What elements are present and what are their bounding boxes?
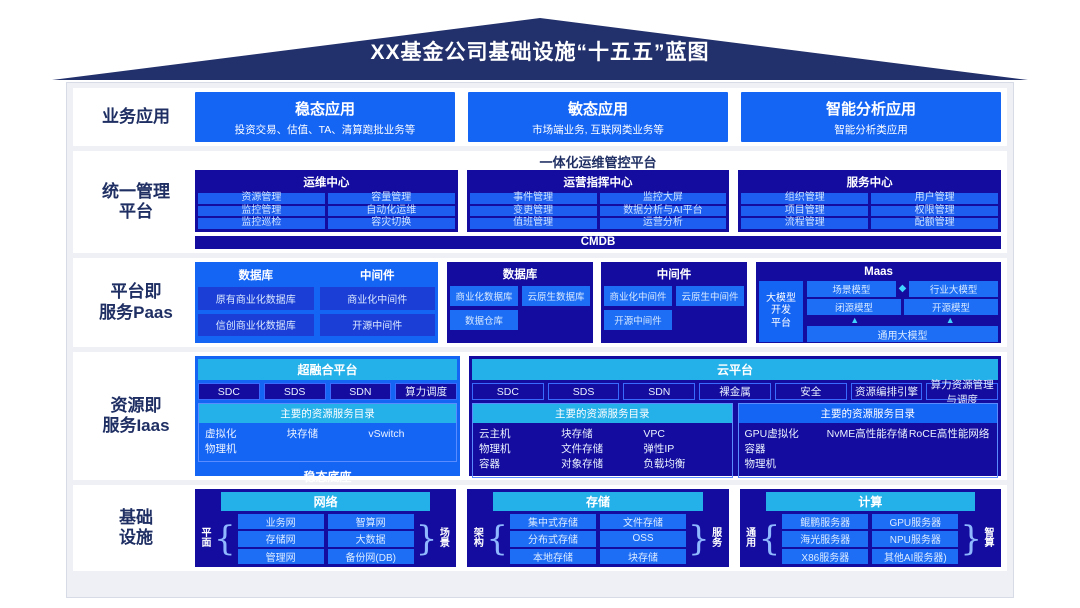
infra-network-block: 网络 平面 { 业务网 智算网 存储网 大数据 管理网 备份网(DB) } — [195, 489, 456, 567]
row-iaas: 资源即 服务Iaas 超融合平台 SDC SDS SDN 算力调度 主要的资源 — [73, 352, 1007, 480]
row-label-line1: 基础 — [119, 508, 153, 527]
app-card-intelligent-analysis[interactable]: 智能分析应用 智能分析类应用 — [741, 92, 1001, 142]
maas-model-industry[interactable]: 行业大模型 — [909, 281, 998, 297]
paas-mid-title: 中间件 — [604, 265, 744, 286]
catalog-item: NvME高性能存储 — [827, 427, 909, 442]
catalog-column: 块存储 — [287, 427, 369, 457]
catalog-item: 虚拟化 — [205, 427, 287, 442]
app-card-stable[interactable]: 稳态应用 投资交易、估值、TA、清算跑批业务等 — [195, 92, 455, 142]
infra-mid: 通用 { 鲲鹏服务器 GPU服务器 海光服务器 NPU服务器 X86服务器 其他… — [744, 514, 997, 564]
center-item[interactable]: 运营分析 — [600, 218, 727, 229]
hyperconverged-catalog-wrap: 主要的资源服务目录 虚拟化 物理机 块存储 vSwitc — [198, 403, 457, 462]
catalog-heading: 主要的资源服务目录 — [739, 404, 998, 423]
center-title: 服务中心 — [741, 172, 998, 193]
capability-security[interactable]: 安全 — [775, 383, 847, 400]
paas-mid-item[interactable]: 数据仓库 — [450, 310, 518, 330]
row-infrastructure: 基础 设施 网络 平面 { 业务网 智算网 存储网 大数据 — [73, 485, 1007, 571]
paas-item[interactable]: 开源中间件 — [320, 314, 436, 337]
row-label-line2: 平台 — [119, 202, 153, 221]
paas-mid-item[interactable]: 云原生中间件 — [676, 286, 744, 306]
catalog-column: VPC 弹性IP 负载均衡 — [643, 427, 725, 473]
brace-left-icon: { — [759, 514, 781, 564]
catalog-item: vSwitch — [368, 427, 450, 442]
catalog-item: RoCE高性能网络 — [909, 427, 991, 442]
row-business-application: 业务应用 稳态应用 投资交易、估值、TA、清算跑批业务等 敏态应用 市场端业务,… — [73, 88, 1007, 146]
paas-mid-title: 数据库 — [450, 265, 590, 286]
catalog-item: 弹性IP — [643, 442, 725, 457]
maas-development-platform[interactable]: 大模型 开发 平台 — [759, 281, 803, 342]
arrow-right-icon: ◆ — [899, 284, 907, 294]
center-item[interactable]: 项目管理 — [741, 206, 868, 217]
maas-model-general[interactable]: 通用大模型 — [807, 326, 998, 342]
infra-item[interactable]: 块存储 — [600, 549, 686, 564]
paas-mid-item[interactable]: 开源中间件 — [604, 310, 672, 330]
maas-model-closed-source[interactable]: 闭源模型 — [807, 299, 901, 315]
maas-row-source: 闭源模型 开源模型 — [807, 299, 998, 315]
catalog-item: 物理机 — [479, 442, 561, 457]
paas-mid-item-empty — [676, 310, 744, 330]
app-card-title: 智能分析应用 — [826, 98, 916, 119]
catalog-item: 块存储 — [561, 427, 643, 442]
capability-orchestration-engine[interactable]: 资源编排引擎 — [851, 383, 923, 400]
app-card-title: 稳态应用 — [295, 98, 355, 119]
app-card-title: 敏态应用 — [568, 98, 628, 119]
row-label-line2: 服务Iaas — [102, 416, 169, 435]
infra-item[interactable]: 其他AI服务器) — [872, 549, 958, 564]
app-card-agile[interactable]: 敏态应用 市场端业务, 互联网类业务等 — [468, 92, 728, 142]
catalog-column: RoCE高性能网络 — [909, 427, 991, 473]
row-label-line2: 服务Paas — [99, 303, 173, 322]
paas-mid-middleware: 中间件 商业化中间件 云原生中间件 开源中间件 — [601, 262, 747, 343]
maas-platform-line3: 平台 — [771, 318, 791, 329]
paas-mid-item-empty — [522, 310, 590, 330]
app-card-subtitle: 投资交易、估值、TA、清算跑批业务等 — [235, 122, 416, 137]
row-label-line1: 统一管理 — [102, 182, 170, 201]
maas-block: Maas 大模型 开发 平台 场景模型 ◆ — [756, 262, 1001, 343]
brace-right-icon: } — [688, 514, 710, 564]
row-label-infrastructure: 基础 设施 — [77, 489, 195, 567]
brace-right-icon: } — [960, 514, 982, 564]
capability-sdn[interactable]: SDN — [330, 383, 392, 400]
paas-item[interactable]: 商业化中间件 — [320, 287, 436, 310]
row-label-business: 业务应用 — [77, 92, 195, 142]
resource-catalog: 主要的资源服务目录 虚拟化 物理机 块存储 vSwitc — [198, 403, 457, 462]
iaas-body: 超融合平台 SDC SDS SDN 算力调度 主要的资源服务目录 虚拟化 — [195, 356, 1001, 476]
resource-catalog-ai: 主要的资源服务目录 GPU虚拟化 容器 物理机 NvME高性能存储 — [738, 403, 999, 478]
center-item[interactable]: 流程管理 — [741, 218, 868, 229]
resource-catalog-general: 主要的资源服务目录 云主机 物理机 容器 块存储 文件存储 — [472, 403, 733, 478]
infra-compute-block: 计算 通用 { 鲲鹏服务器 GPU服务器 海光服务器 NPU服务器 X86服务器… — [740, 489, 1001, 567]
paas-mid-item[interactable]: 商业化中间件 — [604, 286, 672, 306]
blueprint-diagram: XX基金公司基础设施“十五五”蓝图 业务应用 稳态应用 投资交易、估值、TA、清… — [0, 0, 1080, 608]
infra-title: 网络 — [221, 492, 430, 511]
capability-sds[interactable]: SDS — [548, 383, 620, 400]
paas-mid-items: 商业化中间件 云原生中间件 开源中间件 — [604, 286, 744, 330]
catalog-item: 容器 — [745, 442, 827, 457]
center-item[interactable]: 监控管理 — [198, 206, 325, 217]
infra-right-label: 场景 — [437, 514, 452, 564]
infra-item[interactable]: GPU服务器 — [872, 514, 958, 529]
catalog-column: GPU虚拟化 容器 物理机 — [745, 427, 827, 473]
catalog-column: 云主机 物理机 容器 — [479, 427, 561, 473]
paas-mid-item[interactable]: 云原生数据库 — [522, 286, 590, 306]
paas-item[interactable]: 原有商业化数据库 — [198, 287, 314, 310]
infra-item[interactable]: 大数据 — [328, 531, 414, 546]
catalog-items: 云主机 物理机 容器 块存储 文件存储 对象存储 — [473, 423, 732, 477]
infra-item[interactable]: NPU服务器 — [872, 531, 958, 546]
maas-platform-line1: 大模型 — [766, 293, 796, 304]
maas-row-scene: 场景模型 ◆ 行业大模型 — [807, 281, 998, 297]
capability-sdc[interactable]: SDC — [472, 383, 544, 400]
app-card-subtitle: 市场端业务, 互联网类业务等 — [532, 122, 664, 137]
infra-left-label: 通用 — [744, 514, 759, 564]
center-item[interactable]: 变更管理 — [470, 206, 597, 217]
infra-item[interactable]: 文件存储 — [600, 514, 686, 529]
center-title: 运维中心 — [198, 172, 455, 193]
business-cards: 稳态应用 投资交易、估值、TA、清算跑批业务等 敏态应用 市场端业务, 互联网类… — [195, 92, 1001, 142]
diagram-frame: 业务应用 稳态应用 投资交易、估值、TA、清算跑批业务等 敏态应用 市场端业务,… — [66, 82, 1014, 598]
catalog-item: 容器 — [479, 457, 561, 472]
infra-item[interactable]: 存储网 — [238, 531, 324, 546]
center-items: 事件管理 监控大屏 变更管理 数据分析与AI平台 值班管理 运营分析 — [470, 193, 727, 229]
center-item[interactable]: 配额管理 — [871, 218, 998, 229]
row-label-line2: 设施 — [119, 528, 153, 547]
stable-base-label: 稳态底座 — [198, 465, 457, 487]
infra-title: 存储 — [493, 492, 702, 511]
paas-column-title: 中间件 — [320, 265, 436, 287]
arrow-up-icon: ▲ — [903, 317, 999, 324]
infra-mid: 平面 { 业务网 智算网 存储网 大数据 管理网 备份网(DB) } 场景 — [199, 514, 452, 564]
infrastructure-body: 网络 平面 { 业务网 智算网 存储网 大数据 管理网 备份网(DB) } — [195, 489, 1001, 567]
infra-item[interactable]: 备份网(DB) — [328, 549, 414, 564]
row-paas: 平台即 服务Paas 数据库 原有商业化数据库 信创商业化数据库 中间件 商业化… — [73, 258, 1007, 347]
catalog-item: 物理机 — [205, 442, 287, 457]
center-service[interactable]: 服务中心 组织管理 用户管理 项目管理 权限管理 流程管理 配额管理 — [738, 170, 1001, 232]
cloud-platform-title: 云平台 — [472, 359, 998, 380]
hyperconverged-platform-block: 超融合平台 SDC SDS SDN 算力调度 主要的资源服务目录 虚拟化 — [195, 356, 460, 476]
capability-sds[interactable]: SDS — [264, 383, 326, 400]
paas-column-database: 数据库 原有商业化数据库 信创商业化数据库 — [198, 265, 314, 340]
center-ops[interactable]: 运维中心 资源管理 容量管理 监控管理 自动化运维 监控巡检 容灾切换 — [195, 170, 458, 232]
infra-items: 业务网 智算网 存储网 大数据 管理网 备份网(DB) — [236, 514, 416, 564]
capability-bare-metal[interactable]: 裸金属 — [699, 383, 771, 400]
center-items: 组织管理 用户管理 项目管理 权限管理 流程管理 配额管理 — [741, 193, 998, 229]
paas-column-middleware: 中间件 商业化中间件 开源中间件 — [320, 265, 436, 340]
catalog-item: 对象存储 — [561, 457, 643, 472]
catalog-item: 云主机 — [479, 427, 561, 442]
capability-sdn[interactable]: SDN — [623, 383, 695, 400]
center-item[interactable]: 自动化运维 — [328, 206, 455, 217]
brace-right-icon: } — [416, 514, 438, 564]
catalog-column: 虚拟化 物理机 — [205, 427, 287, 457]
paas-agile-group: 数据库 商业化数据库 云原生数据库 数据仓库 中间件 商业化中间件 云原生中间件 — [447, 262, 747, 343]
maas-arrow-row: ▲ ▲ — [807, 317, 998, 324]
capability-sdc[interactable]: SDC — [198, 383, 260, 400]
cloud-catalog-wrap: 主要的资源服务目录 云主机 物理机 容器 块存储 文件存储 — [472, 403, 998, 478]
infra-item[interactable]: OSS — [600, 531, 686, 546]
infra-item[interactable]: 管理网 — [238, 549, 324, 564]
hyperconverged-capabilities: SDC SDS SDN 算力调度 — [198, 383, 457, 400]
row-label-line1: 平台即 — [110, 282, 161, 301]
management-body: 一体化运维管控平台 运维中心 资源管理 容量管理 监控管理 自动化运维 监控巡检… — [195, 155, 1001, 249]
maas-title: Maas — [759, 265, 998, 281]
infra-item[interactable]: 业务网 — [238, 514, 324, 529]
page-title: XX基金公司基础设施“十五五”蓝图 — [0, 36, 1080, 66]
maas-platform-line2: 开发 — [771, 305, 791, 316]
center-item[interactable]: 容量管理 — [328, 193, 455, 204]
center-item[interactable]: 用户管理 — [871, 193, 998, 204]
infra-left-label: 平面 — [199, 514, 214, 564]
paas-stable-group: 数据库 原有商业化数据库 信创商业化数据库 中间件 商业化中间件 开源中间件 — [195, 262, 438, 343]
maas-model-open-source[interactable]: 开源模型 — [904, 299, 998, 315]
row-label-paas: 平台即 服务Paas — [77, 262, 195, 343]
center-item[interactable]: 监控大屏 — [600, 193, 727, 204]
paas-mid-database: 数据库 商业化数据库 云原生数据库 数据仓库 — [447, 262, 593, 343]
infra-item[interactable]: X86服务器 — [782, 549, 868, 564]
paas-item[interactable]: 信创商业化数据库 — [198, 314, 314, 337]
center-item[interactable]: 组织管理 — [741, 193, 868, 204]
catalog-item: 文件存储 — [561, 442, 643, 457]
infra-items: 集中式存储 文件存储 分布式存储 OSS 本地存储 块存储 — [508, 514, 688, 564]
catalog-items: 虚拟化 物理机 块存储 vSwitch — [199, 423, 456, 461]
brace-left-icon: { — [214, 514, 236, 564]
management-centers: 运维中心 资源管理 容量管理 监控管理 自动化运维 监控巡检 容灾切换 运营指挥… — [195, 170, 1001, 232]
paas-mid-items: 商业化数据库 云原生数据库 数据仓库 — [450, 286, 590, 330]
infra-right-label: 服务 — [710, 514, 725, 564]
infra-item[interactable]: 智算网 — [328, 514, 414, 529]
center-items: 资源管理 容量管理 监控管理 自动化运维 监控巡检 容灾切换 — [198, 193, 455, 229]
infra-storage-block: 存储 架构 { 集中式存储 文件存储 分布式存储 OSS 本地存储 块存储 } — [467, 489, 728, 567]
paas-column-title: 数据库 — [198, 265, 314, 287]
infra-item[interactable]: 分布式存储 — [510, 531, 596, 546]
catalog-item: VPC — [643, 427, 725, 442]
app-card-subtitle: 智能分析类应用 — [834, 122, 908, 137]
center-item[interactable]: 数据分析与AI平台 — [600, 206, 727, 217]
brace-left-icon: { — [486, 514, 508, 564]
center-item[interactable]: 监控巡检 — [198, 218, 325, 229]
infra-items: 鲲鹏服务器 GPU服务器 海光服务器 NPU服务器 X86服务器 其他AI服务器… — [780, 514, 960, 564]
center-operation-command[interactable]: 运营指挥中心 事件管理 监控大屏 变更管理 数据分析与AI平台 值班管理 运营分… — [467, 170, 730, 232]
catalog-column: vSwitch — [368, 427, 450, 457]
center-item[interactable]: 权限管理 — [871, 206, 998, 217]
catalog-items: GPU虚拟化 容器 物理机 NvME高性能存储 RoCE高性能网络 — [739, 423, 998, 477]
catalog-heading: 主要的资源服务目录 — [199, 404, 456, 423]
center-item[interactable]: 值班管理 — [470, 218, 597, 229]
infra-left-label: 架构 — [471, 514, 486, 564]
cmdb-bar[interactable]: CMDB — [195, 236, 1001, 250]
catalog-heading: 主要的资源服务目录 — [473, 404, 732, 423]
catalog-item: 块存储 — [287, 427, 369, 442]
paas-body: 数据库 原有商业化数据库 信创商业化数据库 中间件 商业化中间件 开源中间件 数… — [195, 262, 1001, 343]
paas-mid-item[interactable]: 商业化数据库 — [450, 286, 518, 306]
row-label-management: 统一管理 平台 — [77, 155, 195, 249]
capability-compute-scheduling[interactable]: 算力调度 — [395, 383, 457, 400]
row-unified-management: 统一管理 平台 一体化运维管控平台 运维中心 资源管理 容量管理 监控管理 自动… — [73, 151, 1007, 253]
infra-item[interactable]: 鲲鹏服务器 — [782, 514, 868, 529]
infra-right-label: 智算 — [982, 514, 997, 564]
maas-model-stack: 场景模型 ◆ 行业大模型 闭源模型 开源模型 ▲ ▲ — [807, 281, 998, 342]
hyperconverged-title: 超融合平台 — [198, 359, 457, 380]
infra-title: 计算 — [766, 492, 975, 511]
center-item[interactable]: 事件管理 — [470, 193, 597, 204]
center-item[interactable]: 容灾切换 — [328, 218, 455, 229]
cloud-platform-capabilities: SDC SDS SDN 裸金属 安全 资源编排引擎 算力资源管理与调度 — [472, 383, 998, 400]
infra-mid: 架构 { 集中式存储 文件存储 分布式存储 OSS 本地存储 块存储 } 服务 — [471, 514, 724, 564]
catalog-column: 块存储 文件存储 对象存储 — [561, 427, 643, 473]
center-item[interactable]: 资源管理 — [198, 193, 325, 204]
maas-body: 大模型 开发 平台 场景模型 ◆ 行业大模型 — [759, 281, 998, 342]
arrow-up-icon: ▲ — [807, 317, 903, 324]
catalog-item: 物理机 — [745, 457, 827, 472]
catalog-item: GPU虚拟化 — [745, 427, 827, 442]
catalog-item: 负载均衡 — [643, 457, 725, 472]
catalog-column: NvME高性能存储 — [827, 427, 909, 473]
infra-item[interactable]: 集中式存储 — [510, 514, 596, 529]
infra-item[interactable]: 海光服务器 — [782, 531, 868, 546]
row-label-line1: 资源即 — [111, 396, 162, 415]
row-label-iaas: 资源即 服务Iaas — [77, 356, 195, 476]
platform-heading: 一体化运维管控平台 — [195, 155, 1001, 170]
cloud-platform-block: 云平台 SDC SDS SDN 裸金属 安全 资源编排引擎 算力资源管理与调度 … — [469, 356, 1001, 476]
infra-item[interactable]: 本地存储 — [510, 549, 596, 564]
maas-model-scene[interactable]: 场景模型 — [807, 281, 896, 297]
capability-compute-resource-management[interactable]: 算力资源管理与调度 — [926, 383, 998, 400]
center-title: 运营指挥中心 — [470, 172, 727, 193]
